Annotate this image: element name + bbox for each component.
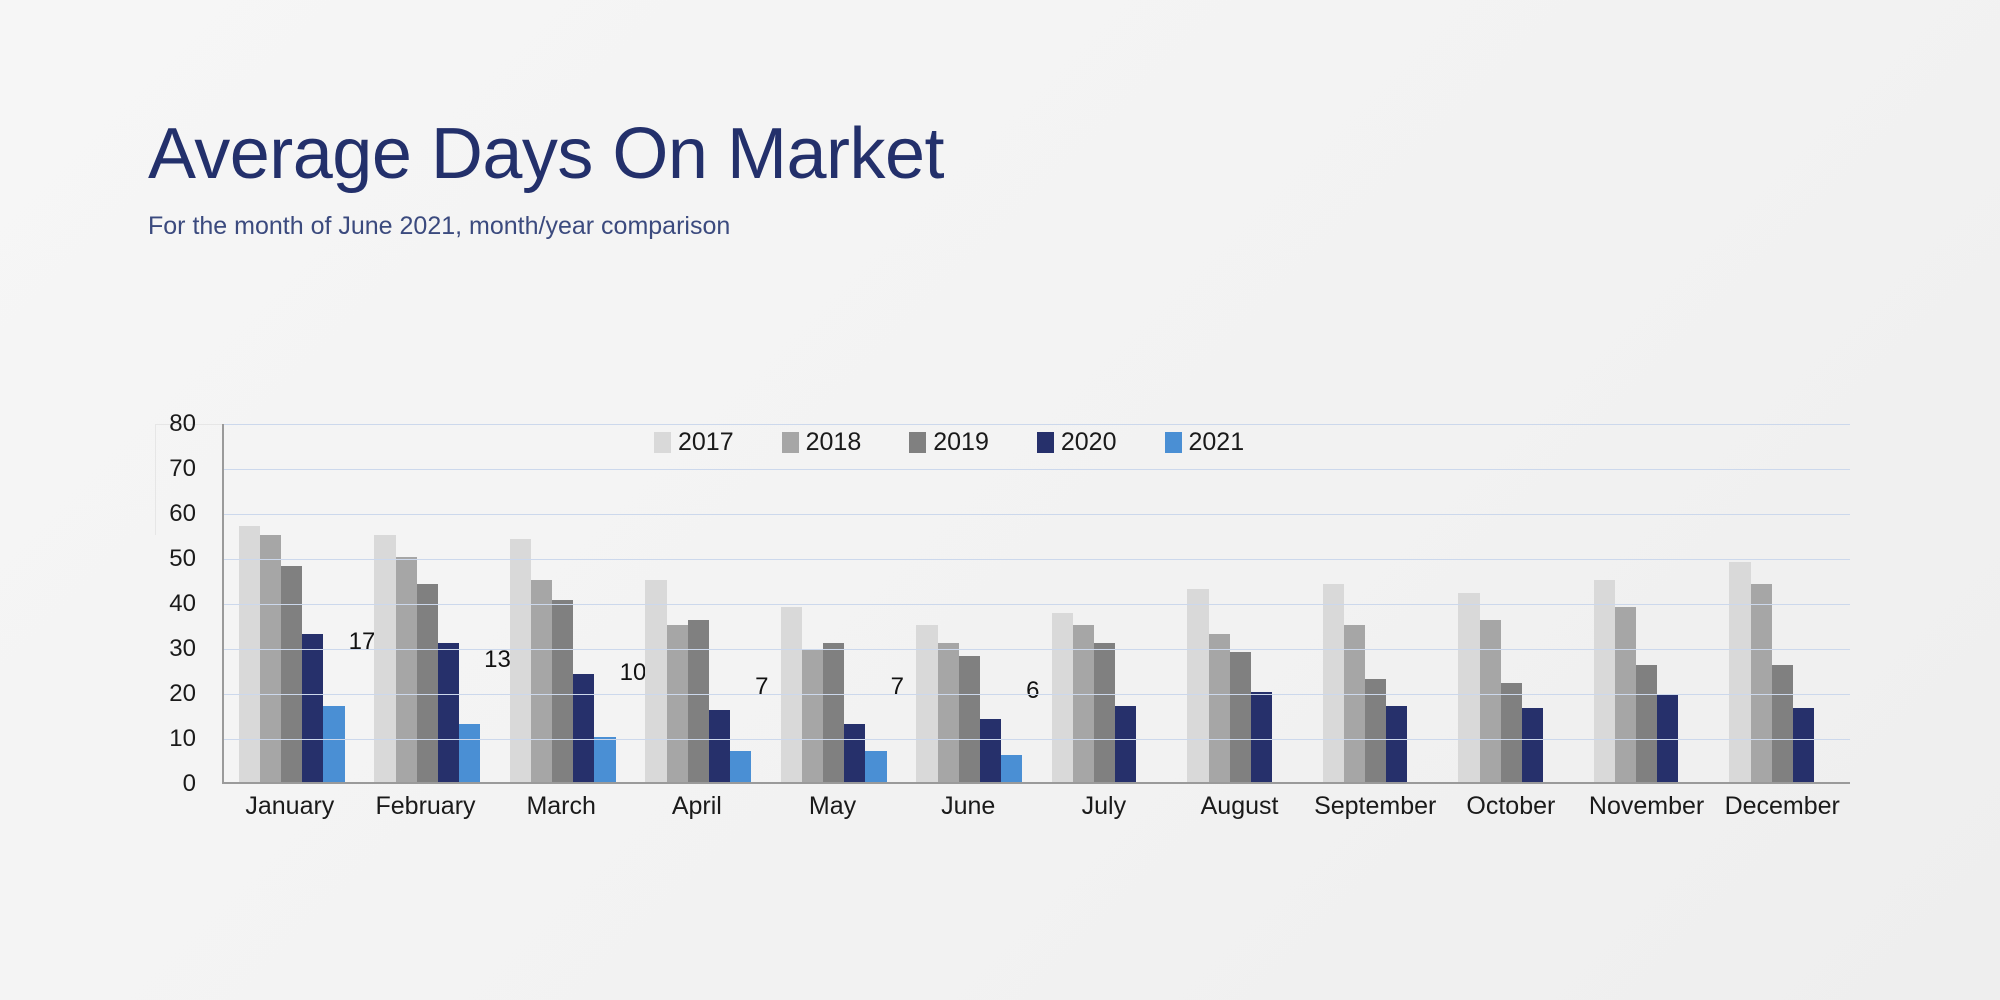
legend-item-2020[interactable]: 2020: [1037, 430, 1117, 455]
bar-2017[interactable]: [1458, 593, 1479, 782]
gridline: [224, 649, 1850, 650]
x-axis-tick-label: August: [1172, 792, 1308, 821]
x-axis: JanuaryFebruaryMarchAprilMayJuneJulyAugu…: [222, 792, 1850, 821]
slide: Average Days On Market For the month of …: [0, 0, 2000, 1000]
bar-2018[interactable]: [531, 580, 552, 783]
bars: [1594, 424, 1700, 782]
x-axis-tick-label: June: [900, 792, 1036, 821]
bars: 7: [781, 424, 887, 782]
legend-swatch-icon: [1165, 432, 1182, 453]
bar-group: [1579, 424, 1715, 782]
gridline: [224, 424, 1850, 425]
legend-swatch-icon: [782, 432, 799, 453]
bar-2017[interactable]: [1187, 589, 1208, 783]
bar-2017[interactable]: [1052, 613, 1073, 782]
bar-group: 6: [902, 424, 1038, 782]
page-subtitle: For the month of June 2021, month/year c…: [148, 212, 1648, 241]
gridline: [224, 694, 1850, 695]
legend-label: 2018: [806, 430, 862, 455]
y-axis-tick-label: 70: [169, 457, 196, 481]
bar-group: 17: [224, 424, 360, 782]
y-axis-tick-label: 60: [169, 502, 196, 526]
legend-label: 2019: [933, 430, 989, 455]
bar-2021[interactable]: [459, 724, 480, 783]
y-axis-tick-label: 0: [183, 772, 196, 796]
bars: 17: [239, 424, 345, 782]
bars: [1729, 424, 1835, 782]
x-axis-tick-label: November: [1579, 792, 1715, 821]
bar-2017[interactable]: [510, 539, 531, 782]
y-axis-tick-label: 50: [169, 547, 196, 571]
bar-2017[interactable]: [239, 526, 260, 783]
bar-2017[interactable]: [645, 580, 666, 783]
x-axis-tick-label: March: [493, 792, 629, 821]
legend-label: 2017: [678, 430, 734, 455]
y-axis-tick-label: 30: [169, 637, 196, 661]
bar-2018[interactable]: [396, 557, 417, 782]
bars: [1187, 424, 1293, 782]
plot-area: 20172018201920202021 171310776: [222, 424, 1850, 784]
bar-chart: 80706050403020100 20172018201920202021 1…: [150, 424, 1850, 844]
gridline: [224, 739, 1850, 740]
bar-2020[interactable]: [1251, 692, 1272, 782]
bar-2020[interactable]: [844, 724, 865, 783]
legend-item-2021[interactable]: 2021: [1165, 430, 1245, 455]
bar-2019[interactable]: [823, 643, 844, 783]
x-axis-tick-label: July: [1036, 792, 1172, 821]
legend-swatch-icon: [654, 432, 671, 453]
bar-group: [1037, 424, 1173, 782]
bar-2017[interactable]: [1323, 584, 1344, 782]
gridline: [224, 469, 1850, 470]
legend-item-2018[interactable]: 2018: [782, 430, 862, 455]
bar-2021[interactable]: [323, 706, 344, 783]
bar-2017[interactable]: [374, 535, 395, 783]
bar-2019[interactable]: [1636, 665, 1657, 782]
bars: 13: [374, 424, 480, 782]
bar-2020[interactable]: [573, 674, 594, 782]
x-axis-tick-label: December: [1714, 792, 1850, 821]
bar-group: 13: [360, 424, 496, 782]
x-axis-tick-label: October: [1443, 792, 1579, 821]
bar-2021[interactable]: [1001, 755, 1022, 782]
bars: 10: [510, 424, 616, 782]
legend-label: 2020: [1061, 430, 1117, 455]
bar-2019[interactable]: [1501, 683, 1522, 782]
bar-2021[interactable]: [594, 737, 615, 782]
bars: 6: [916, 424, 1022, 782]
y-axis-tick-label: 20: [169, 682, 196, 706]
bar-2017[interactable]: [1594, 580, 1615, 783]
bar-2017[interactable]: [1729, 562, 1750, 783]
legend-swatch-icon: [909, 432, 926, 453]
bar-group: [1173, 424, 1309, 782]
bar-2020[interactable]: [438, 643, 459, 783]
bar-group: [1715, 424, 1851, 782]
bars: [1052, 424, 1158, 782]
gridline: [224, 514, 1850, 515]
bar-group: [1444, 424, 1580, 782]
bar-2020[interactable]: [1115, 706, 1136, 783]
y-axis-tick-label: 80: [169, 412, 196, 436]
bars: 7: [645, 424, 751, 782]
bars: [1323, 424, 1429, 782]
x-axis-tick-label: May: [765, 792, 901, 821]
bar-2020[interactable]: [1386, 706, 1407, 783]
x-axis-tick-label: February: [358, 792, 494, 821]
legend-item-2017[interactable]: 2017: [654, 430, 734, 455]
bar-2021[interactable]: [865, 751, 886, 783]
bar-2020[interactable]: [302, 634, 323, 783]
gridline: [224, 604, 1850, 605]
y-axis-tick-label: 40: [169, 592, 196, 616]
bar-groups: 171310776: [224, 424, 1850, 782]
x-axis-tick-label: September: [1307, 792, 1443, 821]
page-title: Average Days On Market: [148, 118, 1648, 190]
bar-2020[interactable]: [1793, 708, 1814, 782]
x-axis-tick-label: January: [222, 792, 358, 821]
bar-2018[interactable]: [938, 643, 959, 783]
bar-2018[interactable]: [802, 649, 823, 782]
legend-label: 2021: [1189, 430, 1245, 455]
bar-2018[interactable]: [1480, 620, 1501, 782]
bar-2019[interactable]: [552, 600, 573, 782]
bar-group: 10: [495, 424, 631, 782]
bar-2018[interactable]: [1751, 584, 1772, 782]
bar-2020[interactable]: [709, 710, 730, 782]
bar-2020[interactable]: [1522, 708, 1543, 782]
bar-2019[interactable]: [417, 584, 438, 782]
bar-2018[interactable]: [260, 535, 281, 783]
bar-2019[interactable]: [688, 620, 709, 782]
bar-2019[interactable]: [1772, 665, 1793, 782]
bars: [1458, 424, 1564, 782]
header: Average Days On Market For the month of …: [148, 118, 1648, 241]
bar-group: 7: [766, 424, 902, 782]
bar-2019[interactable]: [281, 566, 302, 782]
legend-item-2019[interactable]: 2019: [909, 430, 989, 455]
y-axis-tick-label: 10: [169, 727, 196, 751]
bar-2019[interactable]: [1230, 652, 1251, 783]
bar-2019[interactable]: [959, 656, 980, 782]
bar-2019[interactable]: [1094, 643, 1115, 783]
legend-swatch-icon: [1037, 432, 1054, 453]
bar-group: [1308, 424, 1444, 782]
bar-2020[interactable]: [980, 719, 1001, 782]
bar-2018[interactable]: [1209, 634, 1230, 783]
y-axis: 80706050403020100: [150, 424, 204, 784]
bar-group: 7: [631, 424, 767, 782]
gridline: [224, 559, 1850, 560]
x-axis-tick-label: April: [629, 792, 765, 821]
bar-2021[interactable]: [730, 751, 751, 783]
chart-legend: 20172018201920202021: [654, 430, 1244, 455]
